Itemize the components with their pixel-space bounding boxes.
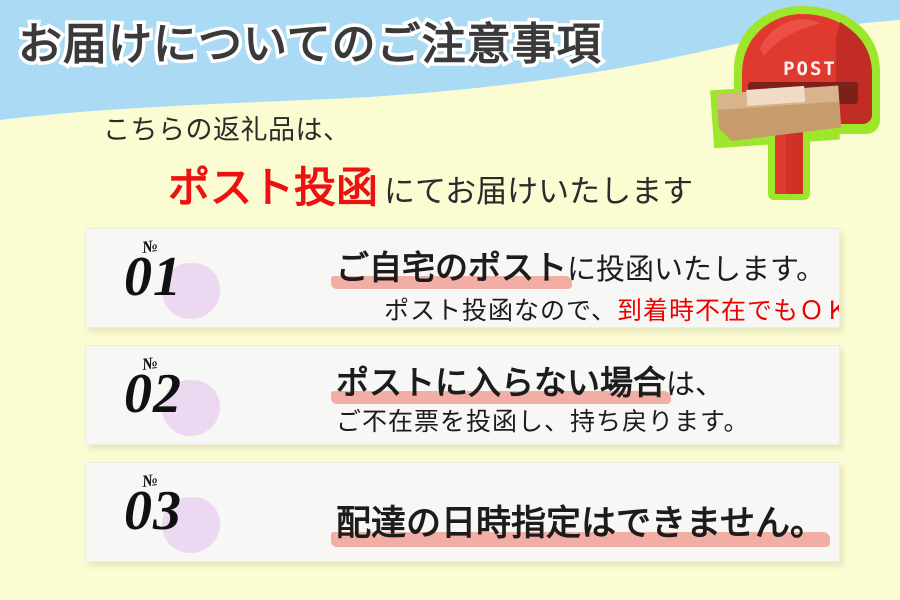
notice-card-03: № 03 配達の日時指定はできません。 (85, 462, 840, 562)
intro-line-2: ポスト投函 にてお届けいたします (168, 154, 693, 215)
post-label: POST (783, 58, 837, 80)
card-main-bold-01: ご自宅のポスト (336, 241, 567, 289)
number-digits: 02 (124, 366, 182, 422)
page-title: お届けについてのご注意事項 (18, 8, 602, 72)
card-main-plain-01: に投函いたします。 (567, 246, 825, 288)
post-box-icon: POST (690, 2, 900, 202)
delivery-notice-banner: お届けについてのご注意事項 POST (0, 0, 900, 600)
intro-highlight-text: ポスト投函 (168, 154, 378, 215)
card-text-01: ご自宅のポスト に投函いたします。 ポスト投函なので、 到着時不在でもＯＫ！ (251, 229, 831, 327)
card-main-bold-03: 配達の日時指定はできません。 (336, 495, 825, 546)
number-digits: 03 (124, 483, 182, 539)
card-number-01: № 01 (114, 235, 234, 323)
card-main-bold-02: ポストに入らない場合 (336, 356, 666, 404)
card-main-line-01: ご自宅のポスト に投函いたします。 (336, 241, 825, 289)
card-text-02: ポストに入らない場合 は、 ご不在票を投函し、持ち戻ります。 (251, 346, 831, 444)
card-sub-plain-02: ご不在票を投函し、持ち戻ります。 (336, 402, 750, 438)
number-digits: 01 (124, 249, 182, 305)
card-number-03: № 03 (114, 469, 234, 557)
intro-line-1: こちらの返礼品は、 (103, 108, 351, 147)
intro-tail-text: にてお届けいたします (384, 166, 693, 211)
card-main-plain-02: は、 (666, 361, 724, 403)
card-sub-red-01: 到着時不在でもＯＫ！ (617, 291, 840, 327)
card-sub-line-01: ポスト投函なので、 到着時不在でもＯＫ！ (384, 291, 840, 327)
card-sub-line-02: ご不在票を投函し、持ち戻ります。 (336, 402, 750, 438)
card-sub-plain-01: ポスト投函なので、 (384, 291, 617, 327)
card-number-02: № 02 (114, 352, 234, 440)
notice-card-02: № 02 ポストに入らない場合 は、 ご不在票を投函し、持ち戻ります。 (85, 345, 840, 445)
card-text-03: 配達の日時指定はできません。 (251, 463, 831, 561)
card-main-line-03: 配達の日時指定はできません。 (336, 495, 825, 546)
card-main-line-02: ポストに入らない場合 は、 (336, 356, 724, 404)
notice-card-01: № 01 ご自宅のポスト に投函いたします。 ポスト投函なので、 到着時不在でも… (85, 228, 840, 328)
